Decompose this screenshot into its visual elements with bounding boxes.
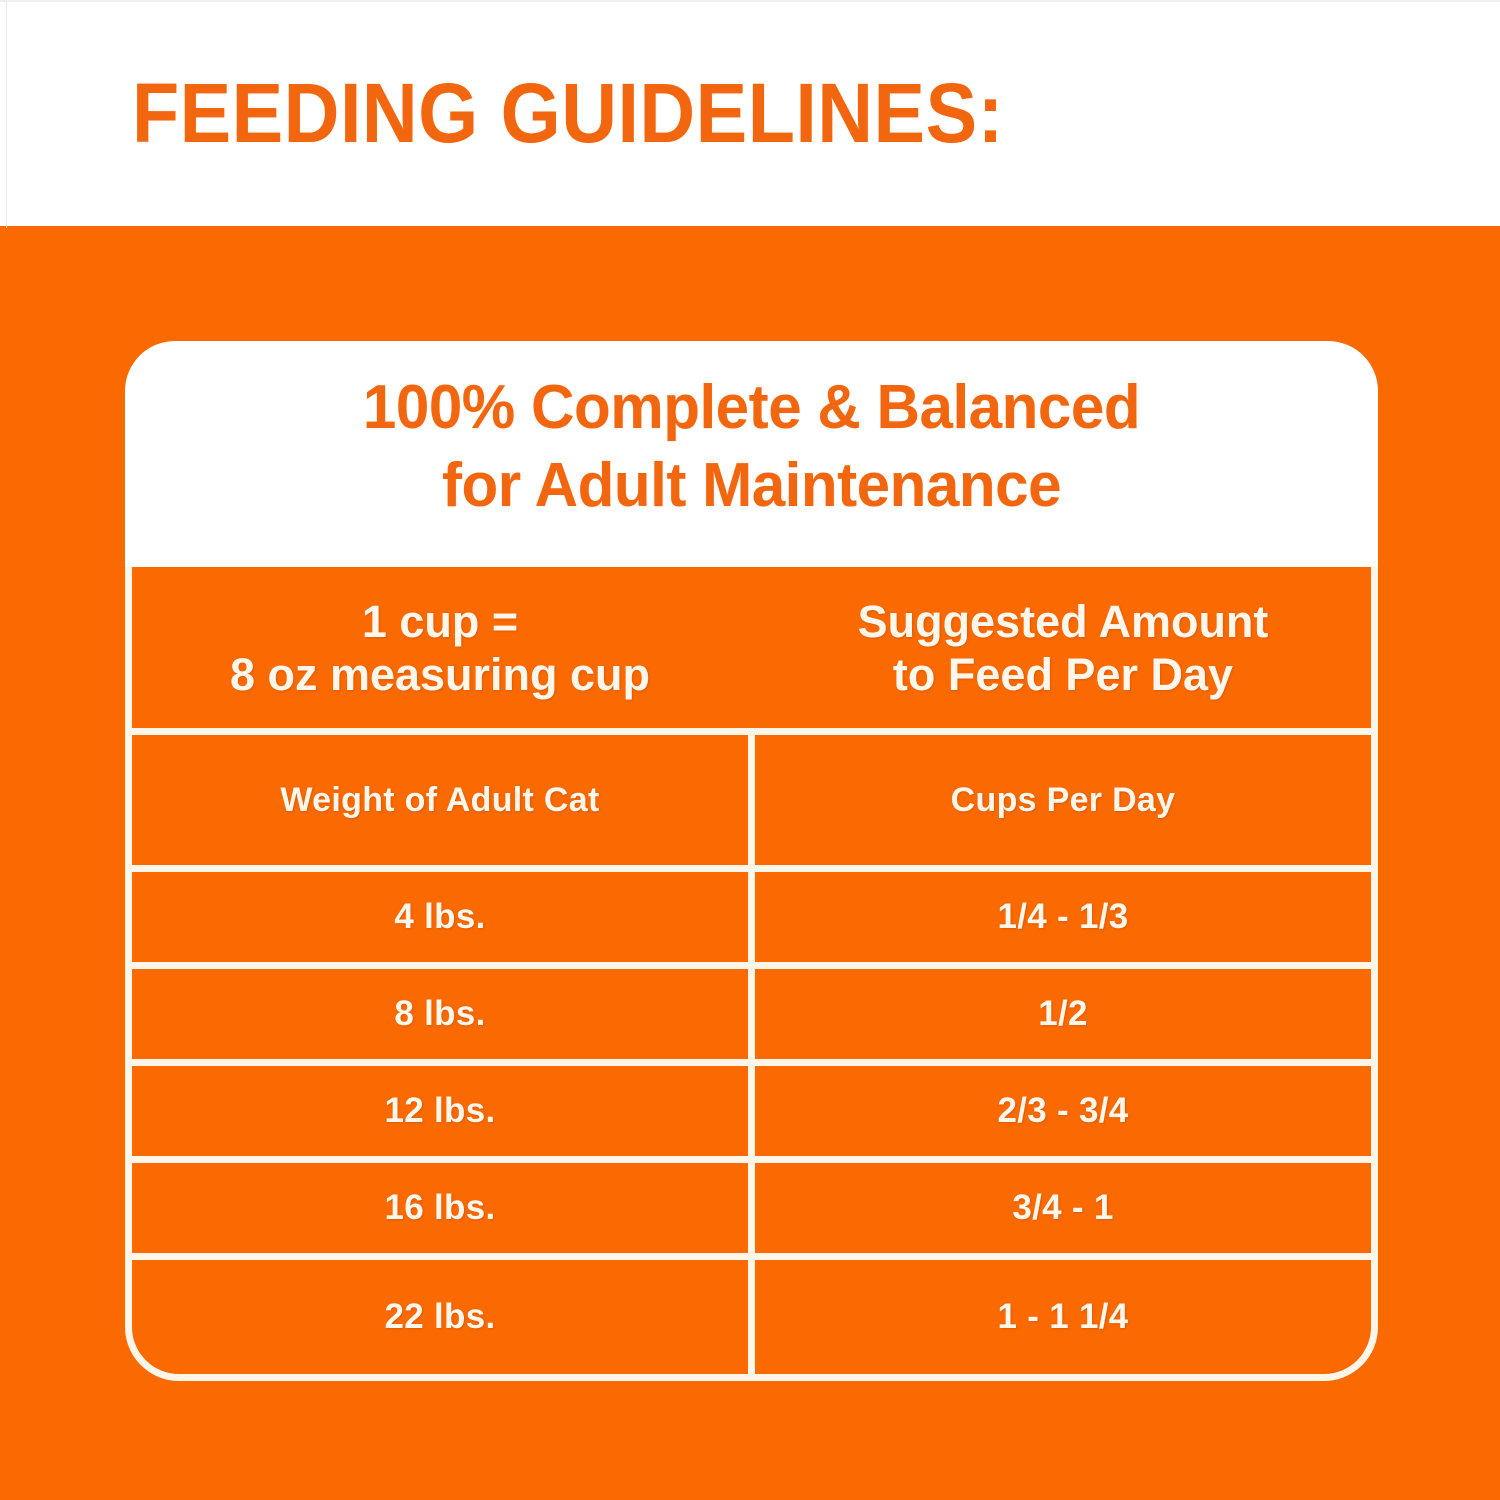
table-vertical-rule-row-2	[748, 969, 755, 1059]
cell-cups: 1/2	[755, 969, 1371, 1059]
header-cup-line-1: 1 cup =	[362, 596, 518, 647]
feeding-table: 1 cup = 8 oz measuring cup Suggested Amo…	[132, 567, 1371, 1374]
column-header-weight: Weight of Adult Cat	[132, 735, 748, 865]
cell-weight: 4 lbs.	[132, 872, 748, 962]
headline-panel: 100% Complete & Balanced for Adult Maint…	[125, 341, 1378, 567]
cell-cups: 1 - 1 1/4	[755, 1260, 1371, 1374]
header-suggested-amount: Suggested Amount to Feed Per Day	[755, 567, 1371, 728]
cell-cups: 1/4 - 1/3	[755, 872, 1371, 962]
table-rule-6	[132, 1253, 1371, 1260]
table-header-row: 1 cup = 8 oz measuring cup Suggested Amo…	[132, 567, 1371, 728]
table-vertical-rule-row-1	[748, 872, 755, 962]
cell-weight: 16 lbs.	[132, 1163, 748, 1253]
cell-cups: 2/3 - 3/4	[755, 1066, 1371, 1156]
table-rule-5	[132, 1156, 1371, 1163]
table-rule-2	[132, 865, 1371, 872]
table-vertical-rule-row-4	[748, 1163, 755, 1253]
cell-weight: 8 lbs.	[132, 969, 748, 1059]
headline-line-1: 100% Complete & Balanced	[144, 369, 1359, 447]
table-vertical-rule-header	[748, 735, 755, 865]
header-suggested-line-1: Suggested Amount	[858, 596, 1269, 647]
header-suggested-line-2: to Feed Per Day	[893, 649, 1233, 700]
cell-weight: 22 lbs.	[132, 1260, 748, 1374]
header-cup-line-2: 8 oz measuring cup	[230, 649, 650, 700]
header-banner: FEEDING GUIDELINES:	[0, 0, 1500, 226]
table-rule-3	[132, 962, 1371, 969]
table-vertical-rule-row-3	[748, 1066, 755, 1156]
cell-cups: 3/4 - 1	[755, 1163, 1371, 1253]
table-rule-4	[132, 1059, 1371, 1066]
card-headline: 100% Complete & Balanced for Adult Maint…	[125, 369, 1378, 525]
table-rule-1	[132, 728, 1371, 735]
header-cup-definition: 1 cup = 8 oz measuring cup	[132, 567, 748, 728]
feeding-guidelines-page: FEEDING GUIDELINES: 100% Complete & Bala…	[0, 0, 1500, 1500]
column-header-cups: Cups Per Day	[755, 735, 1371, 865]
table-vertical-rule-row-5	[748, 1260, 755, 1374]
headline-line-2: for Adult Maintenance	[144, 447, 1359, 525]
banner-left-rule	[6, 2, 7, 228]
page-title: FEEDING GUIDELINES:	[132, 64, 1004, 162]
cell-weight: 12 lbs.	[132, 1066, 748, 1156]
